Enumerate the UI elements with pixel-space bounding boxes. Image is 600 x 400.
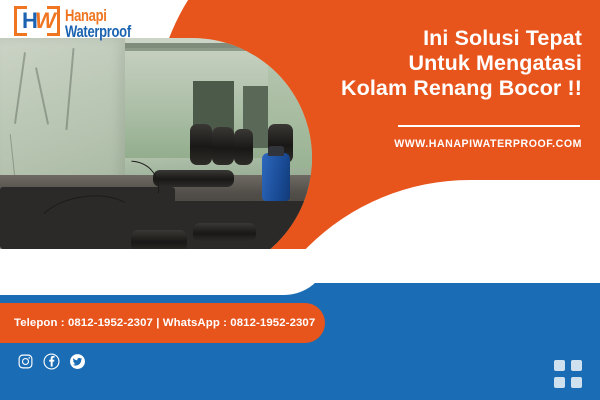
twitter-icon[interactable] (69, 353, 86, 370)
logo-name-line-2: Waterproof (65, 23, 131, 39)
headline-line-1: Ini Solusi Tepat (332, 26, 582, 51)
footer-notch (0, 249, 330, 295)
social-links (17, 353, 86, 370)
photo-bitumen-roll-stack (234, 129, 253, 165)
instagram-icon[interactable] (17, 353, 34, 370)
logo-wordmark: Hanapi Waterproof (65, 7, 131, 36)
logo-monogram: H W (14, 6, 60, 36)
dot-icon (571, 360, 582, 371)
website-url[interactable]: WWW.HANAPIWATERPROOF.COM (332, 138, 582, 150)
headline-block: Ini Solusi Tepat Untuk Mengatasi Kolam R… (332, 26, 582, 101)
facebook-icon[interactable] (43, 353, 60, 370)
footer-bar: Telepon : 0812-1952-2307 | WhatsApp : 08… (0, 283, 600, 400)
contact-text: Telepon : 0812-1952-2307 | WhatsApp : 08… (0, 317, 315, 329)
photo-left-wall (0, 38, 125, 187)
dot-icon (571, 377, 582, 388)
headline-line-2: Untuk Mengatasi (332, 51, 582, 76)
photo-gas-cylinder (262, 153, 290, 201)
brand-logo[interactable]: H W Hanapi Waterproof (14, 6, 131, 36)
promo-banner: Ini Solusi Tepat Untuk Mengatasi Kolam R… (0, 0, 600, 400)
photo-bitumen-roll-stack (190, 124, 212, 165)
dot-icon (554, 360, 565, 371)
hero-photo (0, 38, 312, 278)
logo-letter-w: W (35, 10, 56, 32)
photo-gas-cylinder-valve (268, 146, 284, 156)
contact-pill[interactable]: Telepon : 0812-1952-2307 | WhatsApp : 08… (0, 303, 325, 343)
photo-bitumen-roll (193, 223, 255, 242)
photo-bitumen-roll (153, 170, 234, 187)
headline-line-3: Kolam Renang Bocor !! (332, 76, 582, 101)
decorative-dot-grid (554, 360, 582, 388)
photo-bitumen-roll-stack (212, 127, 234, 165)
dot-icon (554, 377, 565, 388)
headline-divider (398, 125, 580, 127)
logo-name-line-1: Hanapi (65, 7, 131, 23)
photo-scene (0, 38, 312, 278)
